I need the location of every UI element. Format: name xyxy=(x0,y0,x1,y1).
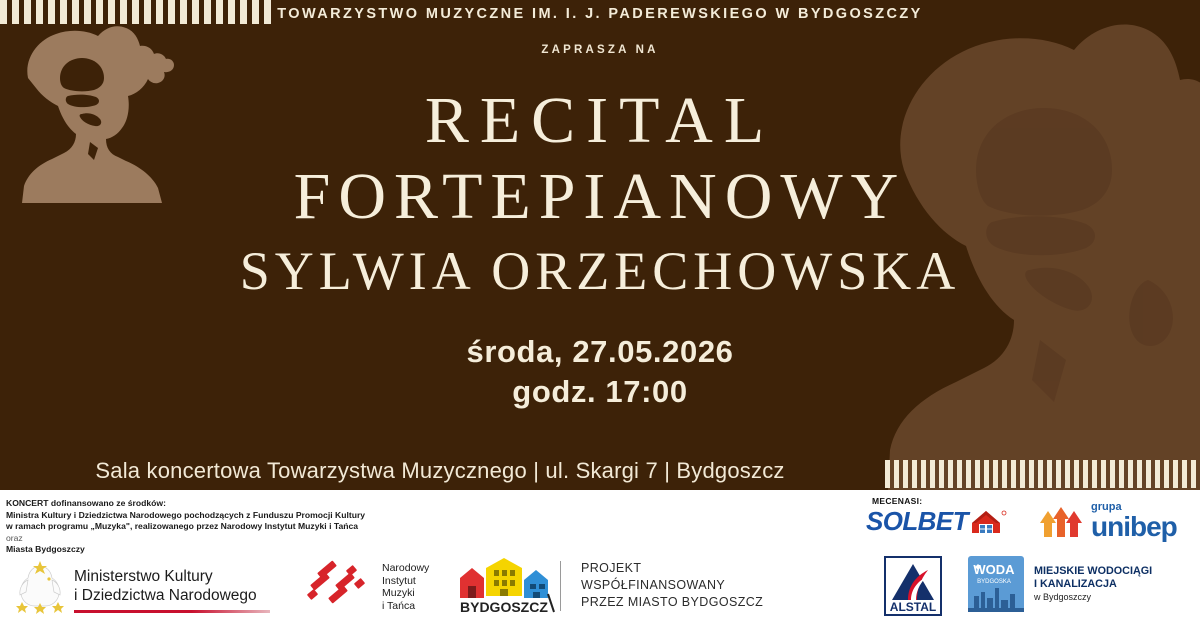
nimit-name: Narodowy Instytut Muzyki i Tańca xyxy=(382,562,429,612)
event-time: godz. 17:00 xyxy=(0,372,1200,412)
bydgoszcz-city-logo: BYDGOSZCZ xyxy=(452,558,562,616)
bydgoszcz-wordmark: BYDGOSZCZ xyxy=(460,599,548,615)
funding-note: KONCERT dofinansowano ze środków: Minist… xyxy=(6,498,426,556)
wodociagi-line-2: I KANALIZACJA xyxy=(1034,578,1152,591)
poster-hero: TOWARZYSTWO MUZYCZNE IM. I. J. PADEREWSK… xyxy=(0,0,1200,490)
unibep-logo: grupa unibep xyxy=(1040,502,1177,541)
event-date: środa, 27.05.2026 xyxy=(0,332,1200,372)
funding-line-2: Ministra Kultury i Dziedzictwa Narodoweg… xyxy=(6,510,365,520)
event-datetime: środa, 27.05.2026 godz. 17:00 xyxy=(0,332,1200,412)
invitation-text: ZAPRASZA NA xyxy=(0,44,1200,56)
funding-line-3: w ramach programu „Muzyka", realizowaneg… xyxy=(6,521,358,531)
woda-badge-sub: BYDGOSKA xyxy=(977,579,1011,585)
funding-line-1: KONCERT dofinansowano ze środków: xyxy=(6,498,166,508)
woda-bydgoska-badge-icon: WODA BYDGOSKA xyxy=(968,556,1024,612)
organizer-title: TOWARZYSTWO MUZYCZNE IM. I. J. PADEREWSK… xyxy=(0,6,1200,22)
project-line-3: PRZEZ MIASTO BYDGOSZCZ xyxy=(581,594,763,611)
bydgoszcz-houses-icon: BYDGOSZCZ xyxy=(452,558,562,616)
title-line-1: RECITAL xyxy=(0,84,1200,158)
venue-line: Sala koncertowa Towarzystwa Muzycznego |… xyxy=(0,458,880,484)
nimit-line-2: Instytut xyxy=(382,575,429,588)
nimit-line-4: i Tańca xyxy=(382,600,429,613)
institutional-logo-row: Ministerstwo Kultury i Dziedzictwa Narod… xyxy=(0,552,1200,620)
alstal-wordmark: ALSTAL xyxy=(890,600,936,614)
piano-keys-venue-row xyxy=(885,460,1200,488)
unibep-arrows-icon xyxy=(1040,505,1088,539)
ministry-line-1: Ministerstwo Kultury xyxy=(74,567,257,586)
wodociagi-logo: WODA BYDGOSKA MIEJSKIE WODOCIĄGI I KANAL… xyxy=(968,556,1152,612)
nimit-logo: Narodowy Instytut Muzyki i Tańca xyxy=(308,562,429,612)
wodociagi-name: MIEJSKIE WODOCIĄGI I KANALIZACJA w Bydgo… xyxy=(1034,565,1152,604)
performer-name: SYLWIA ORZECHOWSKA xyxy=(0,236,1200,306)
solbet-logo: SOLBET xyxy=(866,506,1008,537)
project-text: PROJEKT WSPÓŁFINANSOWANY PRZEZ MIASTO BY… xyxy=(581,560,763,611)
nimit-line-3: Muzyki xyxy=(382,587,429,600)
ministry-of-culture-logo: Ministerstwo Kultury i Dziedzictwa Narod… xyxy=(14,558,257,614)
polish-eagle-icon xyxy=(14,558,66,614)
title-line-2: FORTEPIANOWY xyxy=(0,158,1200,236)
alstal-mark-icon: ALSTAL xyxy=(884,556,942,616)
unibep-wordmark: unibep xyxy=(1091,513,1177,541)
project-cofinanced-block: PROJEKT WSPÓŁFINANSOWANY PRZEZ MIASTO BY… xyxy=(560,560,763,611)
poster-footer: KONCERT dofinansowano ze środków: Minist… xyxy=(0,490,1200,628)
mecenasi-label: MECENASI: xyxy=(872,496,922,506)
poster-title: RECITAL FORTEPIANOWY SYLWIA ORZECHOWSKA xyxy=(0,84,1200,306)
woda-badge-word: WODA xyxy=(973,562,1015,577)
project-line-2: WSPÓŁFINANSOWANY xyxy=(581,577,763,594)
ministry-name: Ministerstwo Kultury i Dziedzictwa Narod… xyxy=(74,567,257,605)
vertical-divider xyxy=(560,561,561,611)
wodociagi-line-1: MIEJSKIE WODOCIĄGI xyxy=(1034,565,1152,578)
nimit-dashes-icon xyxy=(308,565,372,609)
concert-poster: TOWARZYSTWO MUZYCZNE IM. I. J. PADEREWSK… xyxy=(0,0,1200,628)
solbet-house-icon xyxy=(968,507,1008,537)
nimit-line-1: Narodowy xyxy=(382,562,429,575)
project-line-1: PROJEKT xyxy=(581,560,763,577)
solbet-wordmark: SOLBET xyxy=(866,506,968,537)
ministry-accent-rule xyxy=(74,610,270,613)
ministry-line-2: i Dziedzictwa Narodowego xyxy=(74,586,257,605)
wodociagi-line-3: w Bydgoszczy xyxy=(1034,591,1152,604)
alstal-logo: ALSTAL xyxy=(884,556,942,616)
funding-line-4: oraz xyxy=(6,533,426,545)
